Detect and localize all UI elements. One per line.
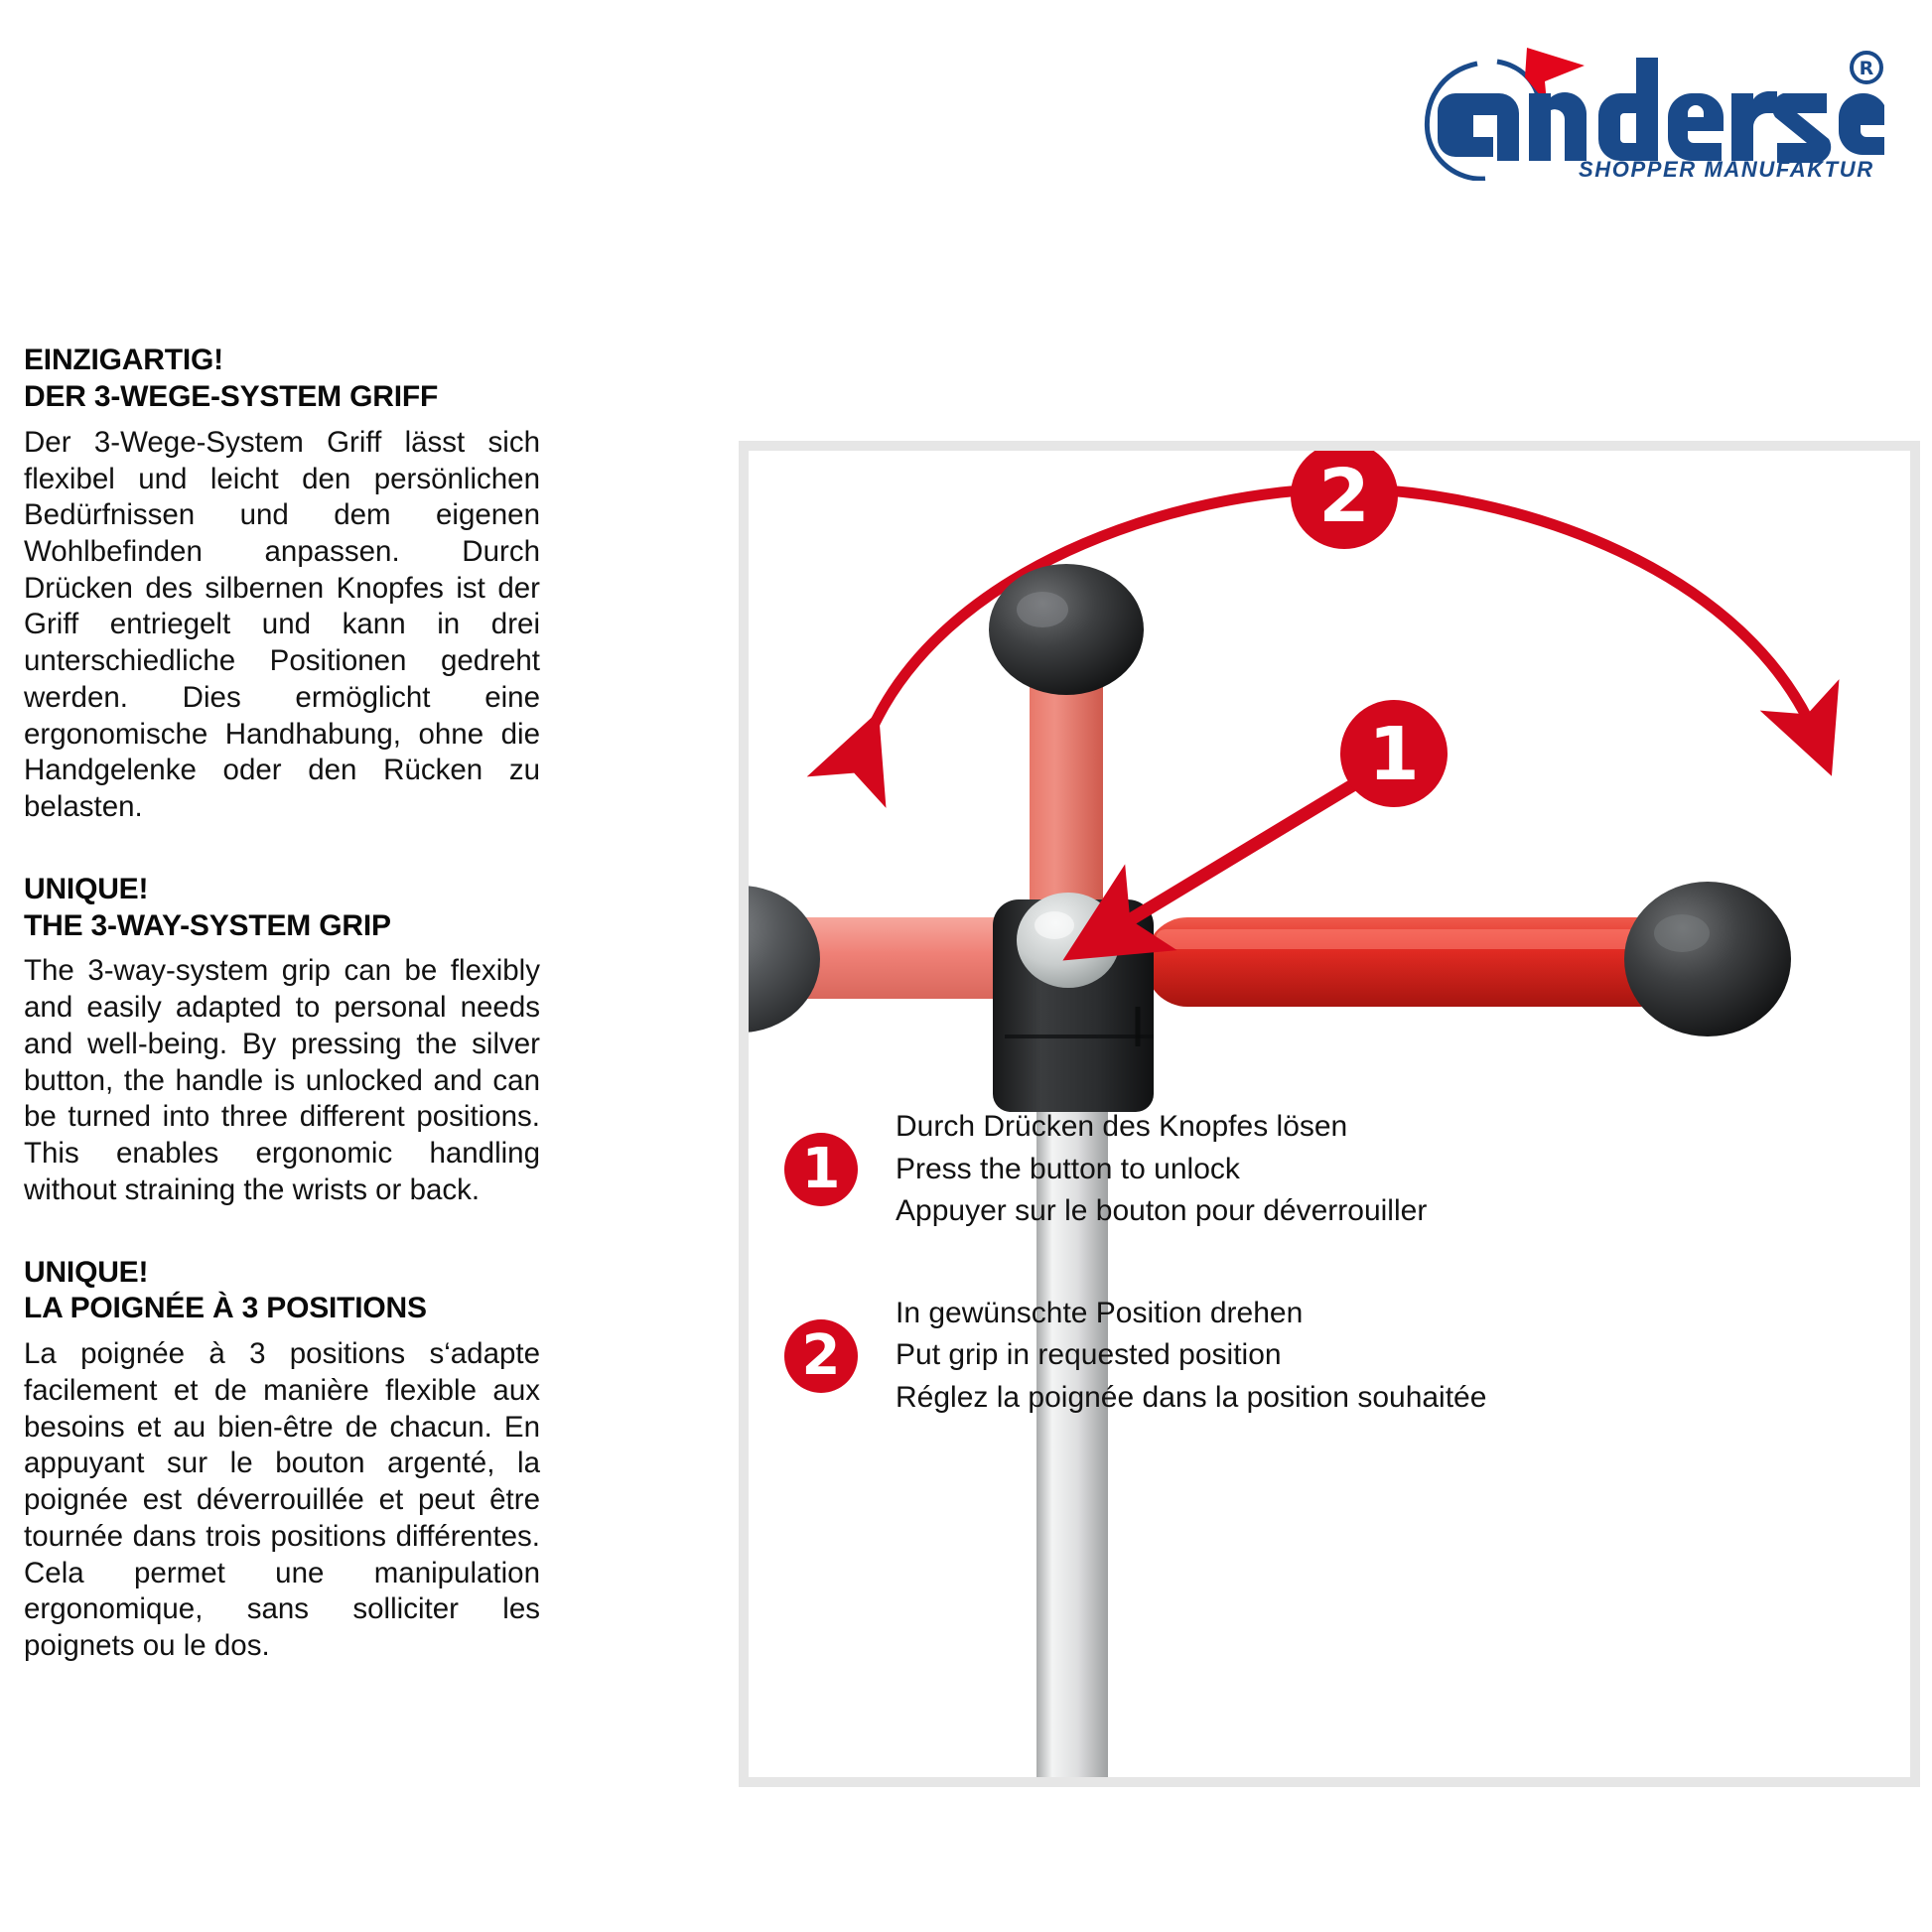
section-en: UNIQUE! THE 3-WAY-SYSTEM GRIP The 3-way-… — [24, 872, 540, 1209]
description-column: EINZIGARTIG! DER 3-WEGE-SYSTEM GRIFF Der… — [24, 343, 540, 1665]
legend-1-fr: Appuyer sur le bouton pour déverrouiller — [896, 1190, 1427, 1233]
legend-1-en: Press the button to unlock — [896, 1149, 1427, 1191]
legend-1-de: Durch Drücken des Knopfes lösen — [896, 1106, 1427, 1149]
legend-item-1: 1 Durch Drücken des Knopfes lösen Press … — [784, 1106, 1906, 1233]
legend-item-2: 2 In gewünschte Position drehen Put grip… — [784, 1293, 1906, 1420]
brand-logo: R SHOPPER MANUFAKTUR — [1418, 42, 1884, 181]
grip-ball-right — [1624, 882, 1791, 1036]
callout-2-label: 2 — [1318, 454, 1370, 539]
section-en-kicker: UNIQUE! — [24, 872, 540, 908]
callout-1-label: 1 — [1368, 712, 1420, 797]
grip-ball-top — [989, 564, 1144, 695]
grip-ball-left — [749, 886, 820, 1033]
section-en-title: THE 3-WAY-SYSTEM GRIP — [24, 908, 540, 945]
section-fr: UNIQUE! LA POIGNÉE À 3 POSITIONS La poig… — [24, 1255, 540, 1665]
section-fr-title: LA POIGNÉE À 3 POSITIONS — [24, 1291, 540, 1327]
legend-1-lines: Durch Drücken des Knopfes lösen Press th… — [896, 1106, 1427, 1233]
section-de-kicker: EINZIGARTIG! — [24, 343, 540, 379]
section-en-body: The 3-way-system grip can be flexibly an… — [24, 953, 540, 1208]
section-fr-body: La poignée à 3 positions s‘adapte facile… — [24, 1336, 540, 1664]
registered-mark-icon: R — [1852, 53, 1881, 82]
legend-2-badge: 2 — [784, 1319, 858, 1393]
legend-2-de: In gewünschte Position drehen — [896, 1293, 1486, 1335]
instruction-legend: 1 Durch Drücken des Knopfes lösen Press … — [784, 1106, 1906, 1420]
brand-tagline: SHOPPER MANUFAKTUR — [1579, 157, 1874, 181]
section-de-title: DER 3-WEGE-SYSTEM GRIFF — [24, 379, 540, 416]
legend-2-lines: In gewünschte Position drehen Put grip i… — [896, 1293, 1486, 1420]
svg-text:R: R — [1860, 58, 1874, 79]
illustration-panel: 1 2 1 Durch Drücken des Knopfes lösen Pr… — [739, 441, 1920, 1787]
legend-2-en: Put grip in requested position — [896, 1334, 1486, 1377]
legend-2-fr: Réglez la poignée dans la position souha… — [896, 1377, 1486, 1420]
callout-1-pointer — [1098, 778, 1364, 939]
section-de: EINZIGARTIG! DER 3-WEGE-SYSTEM GRIFF Der… — [24, 343, 540, 826]
section-fr-kicker: UNIQUE! — [24, 1255, 540, 1292]
legend-1-badge: 1 — [784, 1133, 858, 1206]
section-de-body: Der 3-Wege-System Griff lässt sich flexi… — [24, 425, 540, 826]
